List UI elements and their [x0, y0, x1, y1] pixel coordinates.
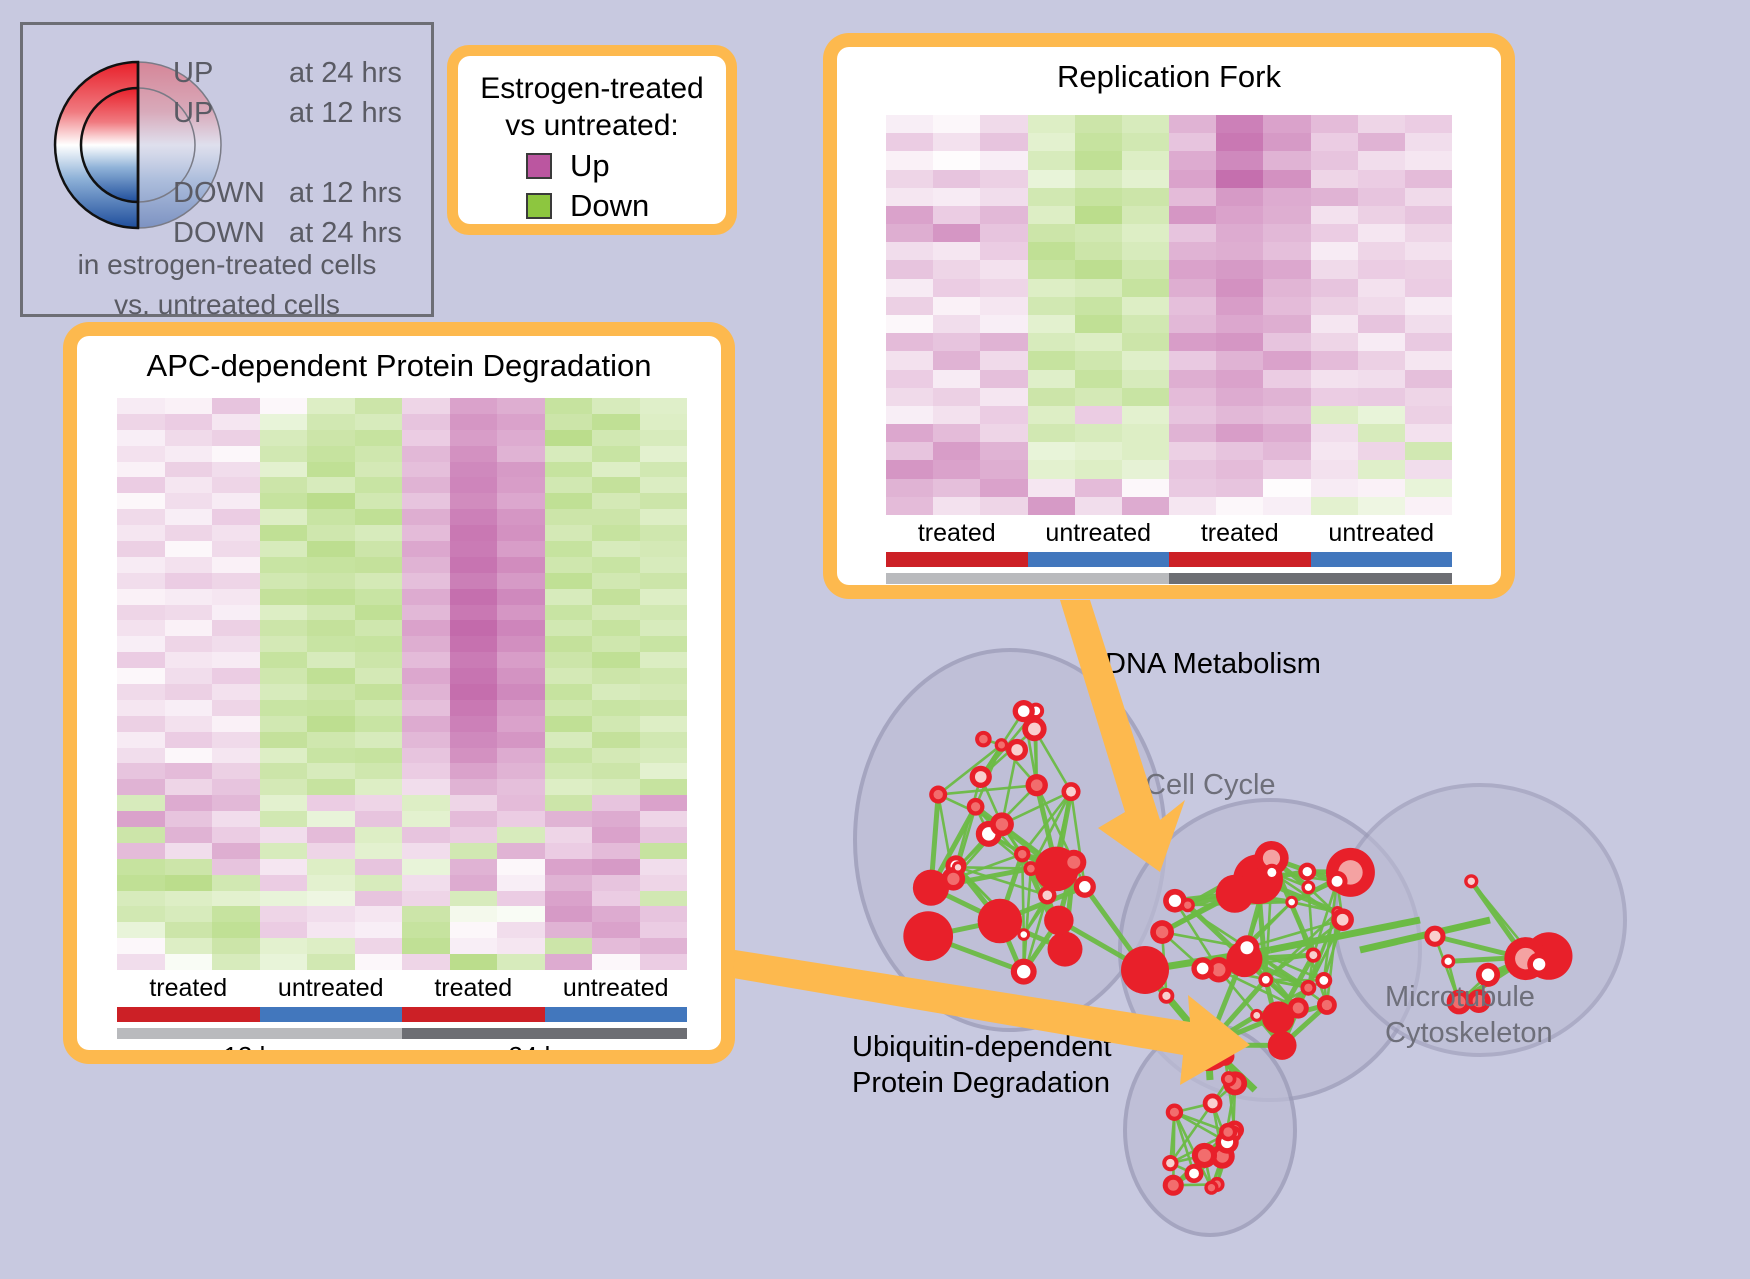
heatmap-cell — [450, 938, 498, 954]
heatmap-cell — [1358, 460, 1405, 478]
heatmap-cell — [1405, 479, 1452, 497]
heatmap-cell — [402, 525, 450, 541]
heatmap-cell — [260, 891, 308, 907]
heatmap-cell — [592, 398, 640, 414]
heatmap-cell — [933, 370, 980, 388]
heatmap-cell — [1075, 188, 1122, 206]
heatmap-cell — [497, 477, 545, 493]
heatmap-cell — [450, 605, 498, 621]
heatmap-cell — [117, 493, 165, 509]
heatmap-cell — [1405, 370, 1452, 388]
heatmap-cell — [450, 541, 498, 557]
heatmap-cell — [1216, 460, 1263, 478]
heatmap-cell — [980, 206, 1027, 224]
heatmap-cell — [592, 605, 640, 621]
heatmap-cell — [1263, 479, 1310, 497]
heatmap-cell — [307, 954, 355, 970]
heatmap-cell — [307, 763, 355, 779]
heatmap-cell — [545, 891, 593, 907]
heatmap-cell — [640, 684, 688, 700]
heatmap-cell — [1075, 406, 1122, 424]
heatmap-cell — [1216, 297, 1263, 315]
heatmap-cell — [402, 716, 450, 732]
heatmap-cell — [165, 620, 213, 636]
heatmap-cell — [212, 843, 260, 859]
heatmap-cell — [165, 414, 213, 430]
heatmap-cell — [592, 811, 640, 827]
heatmap-cell — [1169, 260, 1216, 278]
axis-column-names: treated untreated treated untreated — [886, 519, 1452, 548]
heatmap-cell — [402, 827, 450, 843]
heatmap-cell — [165, 589, 213, 605]
heatmap-cell — [402, 620, 450, 636]
heatmap-cell — [117, 557, 165, 573]
heatmap-cell — [1311, 424, 1358, 442]
heatmap-cell — [450, 811, 498, 827]
heatmap-cell — [1405, 115, 1452, 133]
heatmap-cell — [212, 573, 260, 589]
heatmap-cell — [497, 620, 545, 636]
network-node — [978, 899, 1022, 943]
heatmap-cell — [355, 795, 403, 811]
heatmap-cell — [1122, 370, 1169, 388]
heatmap-cell — [1122, 279, 1169, 297]
heatmap-cell — [497, 636, 545, 652]
heatmap-cell — [1122, 497, 1169, 515]
heatmap-cell — [450, 684, 498, 700]
heatmap-cell — [1216, 406, 1263, 424]
heatmap-cell — [1028, 242, 1075, 260]
heatmap-cell — [355, 414, 403, 430]
bar-untreated-24 — [545, 1007, 688, 1022]
heatmap-cell — [307, 414, 355, 430]
heatmap-cell — [497, 922, 545, 938]
heatmap-cell — [1169, 370, 1216, 388]
network-node — [1327, 871, 1348, 892]
heatmap-cell — [933, 351, 980, 369]
network-node — [1300, 980, 1316, 996]
heatmap-cell — [640, 573, 688, 589]
heatmap-cell — [402, 557, 450, 573]
heatmap-cell — [1122, 188, 1169, 206]
heatmap-cell — [307, 430, 355, 446]
wheel-row-time: at 12 hrs — [289, 177, 402, 210]
heatmap-cell — [355, 636, 403, 652]
cluster-dna-metabolism — [855, 650, 1165, 1030]
heatmap-cell — [355, 446, 403, 462]
bar-time-24 — [402, 1028, 687, 1039]
heatmap-cell — [1358, 115, 1405, 133]
heatmap-cell — [545, 652, 593, 668]
heatmap-cell — [355, 859, 403, 875]
heatmap-cell — [402, 779, 450, 795]
network-node — [1121, 946, 1169, 994]
heatmap-cell — [165, 684, 213, 700]
heatmap-cell — [1028, 224, 1075, 242]
heatmap-cell — [307, 684, 355, 700]
heatmap-cell — [212, 493, 260, 509]
heatmap-cell — [117, 620, 165, 636]
heatmap-cell — [1263, 242, 1310, 260]
heatmap-cell — [450, 525, 498, 541]
heatmap-cell — [1358, 424, 1405, 442]
heatmap-cell — [980, 406, 1027, 424]
heatmap-cell — [1263, 315, 1310, 333]
heatmap-cell — [1122, 260, 1169, 278]
wheel-row-down-12: DOWN at 12 hrs — [173, 173, 433, 213]
heatmap-cell — [933, 297, 980, 315]
heatmap-cell — [1169, 133, 1216, 151]
network-node — [1204, 1181, 1218, 1195]
network-node — [1181, 898, 1195, 912]
heatmap-cell — [1169, 424, 1216, 442]
heatmap-cell — [497, 859, 545, 875]
network-node — [1013, 700, 1035, 722]
down-swatch-icon — [526, 193, 552, 219]
heatmap-cell — [307, 477, 355, 493]
heatmap-cell — [1169, 279, 1216, 297]
heatmap-cell — [592, 779, 640, 795]
heatmap-cell — [450, 589, 498, 605]
heatmap-cell — [1122, 406, 1169, 424]
heatmap-cell — [1216, 370, 1263, 388]
heatmap-cell — [1075, 388, 1122, 406]
heatmap-cell — [402, 684, 450, 700]
heatmap-cell — [1263, 333, 1310, 351]
heatmap-cell — [980, 133, 1027, 151]
heatmap-cell — [165, 795, 213, 811]
heatmap-cell — [355, 938, 403, 954]
heatmap-cell — [212, 605, 260, 621]
heatmap-cell — [1358, 279, 1405, 297]
heatmap-cell — [545, 668, 593, 684]
heatmap-cell — [355, 557, 403, 573]
heatmap-cell — [545, 493, 593, 509]
heatmap-cell — [933, 333, 980, 351]
heatmap-cell — [165, 875, 213, 891]
heatmap-cell — [1311, 224, 1358, 242]
heatmap-cell — [545, 620, 593, 636]
network-node — [1163, 1175, 1184, 1196]
heatmap-cell — [307, 811, 355, 827]
heatmap-cell — [1263, 388, 1310, 406]
heatmap-cell — [450, 620, 498, 636]
heatmap-cell — [117, 477, 165, 493]
heatmap-cell — [1169, 297, 1216, 315]
heatmap-cell — [1028, 133, 1075, 151]
axis-time-bar — [117, 1028, 687, 1039]
heatmap-cell — [980, 479, 1027, 497]
heatmap-cell — [545, 573, 593, 589]
heatmap-cell — [402, 732, 450, 748]
heatmap-replication-fork — [886, 115, 1452, 515]
heatmap-cell — [640, 446, 688, 462]
heatmap-cell — [450, 446, 498, 462]
heatmap-cell — [640, 636, 688, 652]
heatmap-cell — [1263, 170, 1310, 188]
heatmap-cell — [307, 843, 355, 859]
heatmap-cell — [545, 589, 593, 605]
heatmap-cell — [1075, 497, 1122, 515]
heatmap-cell — [1263, 460, 1310, 478]
network-node — [1234, 935, 1259, 960]
heatmap-cell — [355, 954, 403, 970]
heatmap-cell — [1263, 279, 1310, 297]
heatmap-cell — [933, 242, 980, 260]
heatmap-cell — [165, 525, 213, 541]
heatmap-cell — [450, 748, 498, 764]
heatmap-cell — [886, 242, 933, 260]
heatmap-cell — [117, 843, 165, 859]
heatmap-cell — [1075, 370, 1122, 388]
heatmap-cell — [1122, 115, 1169, 133]
heatmap-cell — [640, 827, 688, 843]
heatmap-cell — [212, 620, 260, 636]
heatmap-cell — [545, 700, 593, 716]
heatmap-cell — [260, 922, 308, 938]
network-node — [1061, 850, 1086, 875]
heatmap-cell — [886, 351, 933, 369]
heatmap-cell — [165, 605, 213, 621]
heatmap-cell — [933, 388, 980, 406]
heatmap-cell — [402, 477, 450, 493]
heatmap-cell — [980, 188, 1027, 206]
heatmap-cell — [355, 605, 403, 621]
heatmap-cell — [640, 430, 688, 446]
axis-time-bar — [886, 573, 1452, 584]
heatmap-cell — [1358, 170, 1405, 188]
heatmap-cell — [1405, 224, 1452, 242]
wheel-row-label: DOWN — [173, 177, 289, 210]
heatmap-cell — [1169, 315, 1216, 333]
heatmap-cell — [260, 716, 308, 732]
heatmap-cell — [497, 954, 545, 970]
colour-wheel-footer: in estrogen-treated cells vs. untreated … — [23, 245, 431, 325]
heatmap-cell — [980, 242, 1027, 260]
heatmap-cell — [640, 748, 688, 764]
heatmap-cell — [402, 430, 450, 446]
bar-treated-24 — [402, 1007, 545, 1022]
network-node — [1331, 908, 1354, 931]
heatmap-cell — [497, 589, 545, 605]
heatmap-cell — [117, 462, 165, 478]
heatmap-cell — [592, 891, 640, 907]
heatmap-cell — [1216, 333, 1263, 351]
axis-treatment-bar — [117, 1007, 687, 1022]
heatmap-cell — [165, 779, 213, 795]
wheel-row-up-24: UP at 24 hrs — [173, 53, 433, 93]
network-node — [1074, 876, 1096, 898]
heatmap-cell — [212, 891, 260, 907]
heatmap-cell — [307, 875, 355, 891]
heatmap-cell — [450, 509, 498, 525]
heatmap-cell — [212, 859, 260, 875]
heatmap-cell — [402, 589, 450, 605]
heatmap-cell — [497, 652, 545, 668]
axis-col-treated-12: treated — [117, 974, 260, 1003]
heatmap-cell — [1263, 224, 1310, 242]
heatmap-cell — [117, 875, 165, 891]
network-edge — [1022, 854, 1024, 934]
heatmap-cell — [933, 442, 980, 460]
heatmap-cell — [592, 922, 640, 938]
heatmap-cell — [497, 541, 545, 557]
network-node — [1166, 1104, 1183, 1121]
heatmap-cell — [212, 922, 260, 938]
heatmap-cell — [355, 477, 403, 493]
axis-apc: treated untreated treated untreated 12 h — [117, 974, 687, 1050]
heatmap-cell — [402, 493, 450, 509]
heatmap-cell — [1311, 479, 1358, 497]
heatmap-cell — [260, 779, 308, 795]
heatmap-cell — [592, 684, 640, 700]
heatmap-cell — [640, 414, 688, 430]
label-ubiquitin-line1: Ubiquitin-dependent — [852, 1030, 1112, 1064]
heatmap-cell — [402, 700, 450, 716]
heatmap-cell — [165, 462, 213, 478]
heatmap-cell — [1311, 170, 1358, 188]
axis-col-treated-24: treated — [402, 974, 545, 1003]
bar-time-12 — [886, 573, 1169, 584]
label-cell-cycle: Cell Cycle — [1145, 768, 1276, 802]
heatmap-cell — [1263, 424, 1310, 442]
heatmap-cell — [1311, 406, 1358, 424]
heatmap-cell — [307, 891, 355, 907]
heatmap-cell — [355, 891, 403, 907]
heatmap-cell — [980, 442, 1027, 460]
heatmap-cell — [1075, 151, 1122, 169]
heatmap-cell — [117, 732, 165, 748]
heatmap-cell — [980, 279, 1027, 297]
heatmap-cell — [165, 477, 213, 493]
heatmap-cell — [1169, 170, 1216, 188]
heatmap-cell — [402, 541, 450, 557]
heatmap-cell — [1311, 297, 1358, 315]
heatmap-cell — [980, 460, 1027, 478]
axis-col-treated-12: treated — [886, 519, 1028, 548]
heatmap-cell — [1169, 224, 1216, 242]
heatmap-cell — [1075, 333, 1122, 351]
heatmap-cell — [545, 446, 593, 462]
heatmap-cell — [1405, 460, 1452, 478]
heatmap-cell — [1263, 188, 1310, 206]
heatmap-cell — [592, 843, 640, 859]
heatmap-cell — [1263, 351, 1310, 369]
axis-time-labels: 12 hrs 24 hrs — [117, 1041, 687, 1050]
heatmap-cell — [1216, 424, 1263, 442]
heatmap-cell — [260, 763, 308, 779]
heatmap-cell — [497, 684, 545, 700]
heatmap-cell — [1169, 151, 1216, 169]
heatmap-cell — [212, 763, 260, 779]
heatmap-cell — [1169, 497, 1216, 515]
heatmap-cell — [117, 668, 165, 684]
heatmap-cell — [355, 573, 403, 589]
heatmap-cell — [886, 406, 933, 424]
heatmap-cell — [117, 573, 165, 589]
heatmap-cell — [165, 732, 213, 748]
heatmap-cell — [592, 652, 640, 668]
heatmap-cell — [212, 652, 260, 668]
heatmap-cell — [212, 684, 260, 700]
heatmap-cell — [307, 906, 355, 922]
network-node — [1315, 972, 1332, 989]
heatmap-cell — [1122, 133, 1169, 151]
heatmap-cell — [355, 906, 403, 922]
heatmap-cell — [165, 716, 213, 732]
heatmap-cell — [592, 462, 640, 478]
heatmap-cell — [640, 477, 688, 493]
heatmap-cell — [165, 843, 213, 859]
heatmap-cell — [1169, 351, 1216, 369]
heatmap-cell — [640, 732, 688, 748]
heatmap-cell — [933, 479, 980, 497]
heatmap-cell — [165, 906, 213, 922]
heatmap-cell — [933, 224, 980, 242]
heatmap-cell — [640, 891, 688, 907]
heatmap-cell — [1311, 315, 1358, 333]
heatmap-cell — [402, 938, 450, 954]
heatmap-cell — [640, 398, 688, 414]
heatmap-cell — [1028, 151, 1075, 169]
heatmap-cell — [592, 636, 640, 652]
heatmap-cell — [497, 509, 545, 525]
heatmap-cell — [165, 748, 213, 764]
footer-line-1: in estrogen-treated cells — [23, 245, 431, 285]
heatmap-cell — [260, 462, 308, 478]
heatmap-cell — [497, 811, 545, 827]
heatmap-cell — [933, 206, 980, 224]
heatmap-cell — [545, 509, 593, 525]
heatmap-cell — [307, 859, 355, 875]
heatmap-cell — [212, 700, 260, 716]
heatmap-cell — [260, 573, 308, 589]
heatmap-cell — [497, 748, 545, 764]
heatmap-cell — [592, 795, 640, 811]
heatmap-cell — [980, 497, 1027, 515]
heatmap-cell — [260, 700, 308, 716]
heatmap-cell — [640, 795, 688, 811]
heatmap-cell — [1028, 406, 1075, 424]
heatmap-cell — [450, 827, 498, 843]
bar-treated-12 — [117, 1007, 260, 1022]
panel-apc-inner: APC-dependent Protein Degradation treate… — [77, 336, 721, 1050]
heatmap-cell — [545, 636, 593, 652]
heatmap-cell — [450, 843, 498, 859]
heatmap-cell — [307, 398, 355, 414]
network-node — [1191, 957, 1213, 979]
heatmap-cell — [165, 859, 213, 875]
heatmap-cell — [886, 297, 933, 315]
heatmap-cell — [307, 795, 355, 811]
heatmap-cell — [592, 906, 640, 922]
heatmap-cell — [1122, 424, 1169, 442]
heatmap-cell — [1122, 151, 1169, 169]
heatmap-cell — [497, 573, 545, 589]
heatmap-cell — [450, 891, 498, 907]
heatmap-cell — [165, 811, 213, 827]
heatmap-cell — [117, 700, 165, 716]
heatmap-cell — [402, 509, 450, 525]
heatmap-cell — [1405, 133, 1452, 151]
heatmap-cell — [212, 446, 260, 462]
heatmap-cell — [1028, 206, 1075, 224]
heatmap-cell — [980, 297, 1027, 315]
heatmap-cell — [592, 525, 640, 541]
heatmap-cell — [307, 541, 355, 557]
axis-col-treated-24: treated — [1169, 519, 1311, 548]
heatmap-cell — [117, 716, 165, 732]
